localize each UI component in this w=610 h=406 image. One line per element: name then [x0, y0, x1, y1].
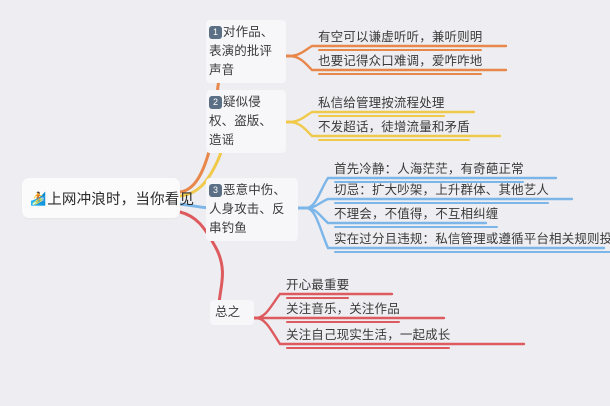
leaf-node-4-1[interactable]: 开心最重要 [280, 276, 355, 302]
leaf-underline [318, 139, 470, 141]
leaf-underline [334, 202, 549, 204]
leaf-node-3-1-label: 首先冷静：人海茫茫，有奇葩正常 [334, 162, 524, 176]
branch-4-label: 总之 [215, 305, 240, 319]
mindmap-canvas: 🏄 上网冲浪时，当你看见 1对作品、表演的批评声音 有空可以谦虚听听，兼听则明 … [0, 0, 610, 406]
branch-2-number-badge: 2 [209, 96, 222, 109]
surfing-icon: 🏄 [30, 192, 46, 205]
leaf-underline [334, 251, 610, 253]
leaf-underline [286, 297, 349, 299]
branch-node-4[interactable]: 总之 [210, 300, 254, 325]
leaf-underline [286, 321, 400, 323]
leaf-node-4-1-label: 开心最重要 [286, 278, 349, 292]
leaf-node-2-2-label: 不发超话，徒增流量和矛盾 [318, 120, 470, 134]
leaf-node-3-2-label: 切忌：扩大吵架，上升群体、其他艺人 [334, 183, 549, 197]
leaf-node-3-3[interactable]: 不理会，不值得，不互相纠缠 [328, 205, 504, 231]
root-node-label: 上网冲浪时，当你看见 [47, 188, 194, 209]
leaf-node-3-2[interactable]: 切忌：扩大吵架，上升群体、其他艺人 [328, 181, 555, 207]
branch-node-1[interactable]: 1对作品、表演的批评声音 [206, 20, 286, 83]
leaf-node-2-1[interactable]: 私信给管理按流程处理 [312, 94, 451, 120]
leaf-node-2-1-label: 私信给管理按流程处理 [318, 96, 445, 110]
leaf-underline [334, 226, 498, 228]
leaf-node-3-4[interactable]: 实在过分且违规：私信管理或遵循平台相关规则投诉 [328, 230, 610, 256]
branch-3-number-badge: 3 [209, 184, 222, 197]
leaf-underline [318, 49, 482, 51]
leaf-node-4-3[interactable]: 关注自己现实生活，一起成长 [280, 326, 456, 352]
leaf-node-4-3-label: 关注自己现实生活，一起成长 [286, 328, 450, 342]
leaf-node-1-2[interactable]: 也要记得众口难调，爱咋咋地 [312, 52, 488, 78]
leaf-underline [318, 73, 482, 75]
leaf-node-2-2[interactable]: 不发超话，徒增流量和矛盾 [312, 118, 476, 144]
leaf-node-3-3-label: 不理会，不值得，不互相纠缠 [334, 207, 498, 221]
leaf-node-1-1-label: 有空可以谦虚听听，兼听则明 [318, 30, 482, 44]
leaf-node-3-4-label: 实在过分且违规：私信管理或遵循平台相关规则投诉 [334, 232, 610, 246]
root-node[interactable]: 🏄 上网冲浪时，当你看见 [22, 178, 180, 218]
leaf-node-1-2-label: 也要记得众口难调，爱咋咋地 [318, 54, 482, 68]
branch-node-3[interactable]: 3恶意中伤、人身攻击、反串钓鱼 [206, 178, 298, 241]
branch-1-number-badge: 1 [209, 26, 222, 39]
branch-node-2[interactable]: 2疑似侵权、盗版、造谣 [206, 90, 286, 153]
leaf-underline [318, 115, 445, 117]
leaf-underline [286, 347, 450, 349]
leaf-node-1-1[interactable]: 有空可以谦虚听听，兼听则明 [312, 28, 488, 54]
leaf-node-4-2[interactable]: 关注音乐，关注作品 [280, 300, 406, 326]
leaf-node-4-2-label: 关注音乐，关注作品 [286, 302, 400, 316]
